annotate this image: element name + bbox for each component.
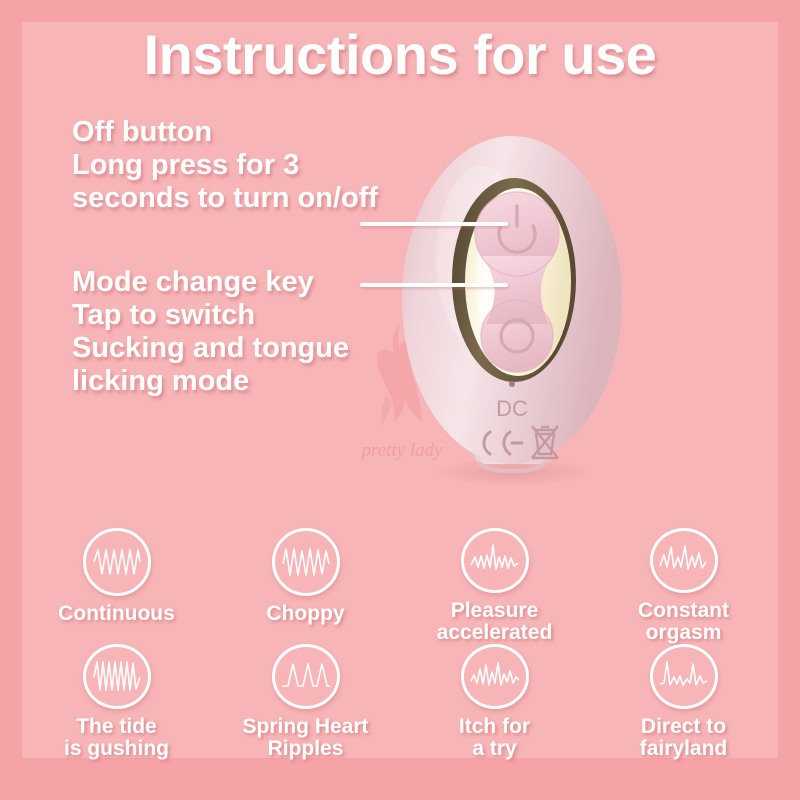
callout-power-button: Off button Long press for 3 seconds to t…	[72, 116, 378, 215]
mode-item-choppy: Choppy	[211, 528, 400, 644]
mode-label: Choppy	[266, 603, 344, 625]
mode-label: Continuous	[58, 603, 175, 625]
page-title: Instructions for use	[0, 22, 800, 87]
waveform-spring-heart-ripples-icon	[272, 644, 340, 709]
mode-label: Constant orgasm	[638, 600, 729, 645]
waveform-itch-for-a-try-icon	[461, 644, 529, 709]
waveform-pleasure-accelerated-icon	[461, 528, 529, 593]
waveform-continuous-icon	[83, 528, 151, 596]
mode-item-continuous: Continuous	[22, 528, 211, 644]
mode-label: Pleasure accelerated	[437, 600, 553, 645]
mode-item-constant-orgasm: Constant orgasm	[589, 528, 778, 644]
mode-item-pleasure-accelerated: Pleasure accelerated	[400, 528, 589, 644]
mode-item-direct-to-fairyland: Direct to fairyland	[589, 644, 778, 760]
callout-mode-button: Mode change key Tap to switch Sucking an…	[72, 266, 349, 398]
mode-item-spring-heart-ripples: Spring Heart Ripples	[211, 644, 400, 760]
charging-port-dot	[509, 381, 515, 387]
mode-label: The tide is gushing	[64, 716, 169, 761]
mode-item-tide-gushing: The tide is gushing	[22, 644, 211, 760]
mode-label: Direct to fairyland	[640, 716, 728, 761]
instruction-poster: Instructions for use pretty lady	[0, 0, 800, 800]
leader-line-mode-button	[360, 283, 508, 287]
leader-line-power-button	[360, 222, 508, 226]
waveform-tide-gushing-icon	[83, 644, 151, 709]
waveform-constant-orgasm-icon	[650, 528, 718, 593]
dc-label: DC	[496, 396, 528, 421]
product-device-image: DC	[386, 128, 636, 488]
waveform-direct-to-fairyland-icon	[650, 644, 718, 709]
mode-label: Spring Heart Ripples	[242, 716, 368, 761]
mode-item-itch-for-a-try: Itch for a try	[400, 644, 589, 760]
waveform-choppy-icon	[272, 528, 340, 596]
vibration-mode-grid: Continuous Choppy Pleasure accelerated	[22, 528, 778, 760]
mode-label: Itch for a try	[459, 716, 530, 761]
